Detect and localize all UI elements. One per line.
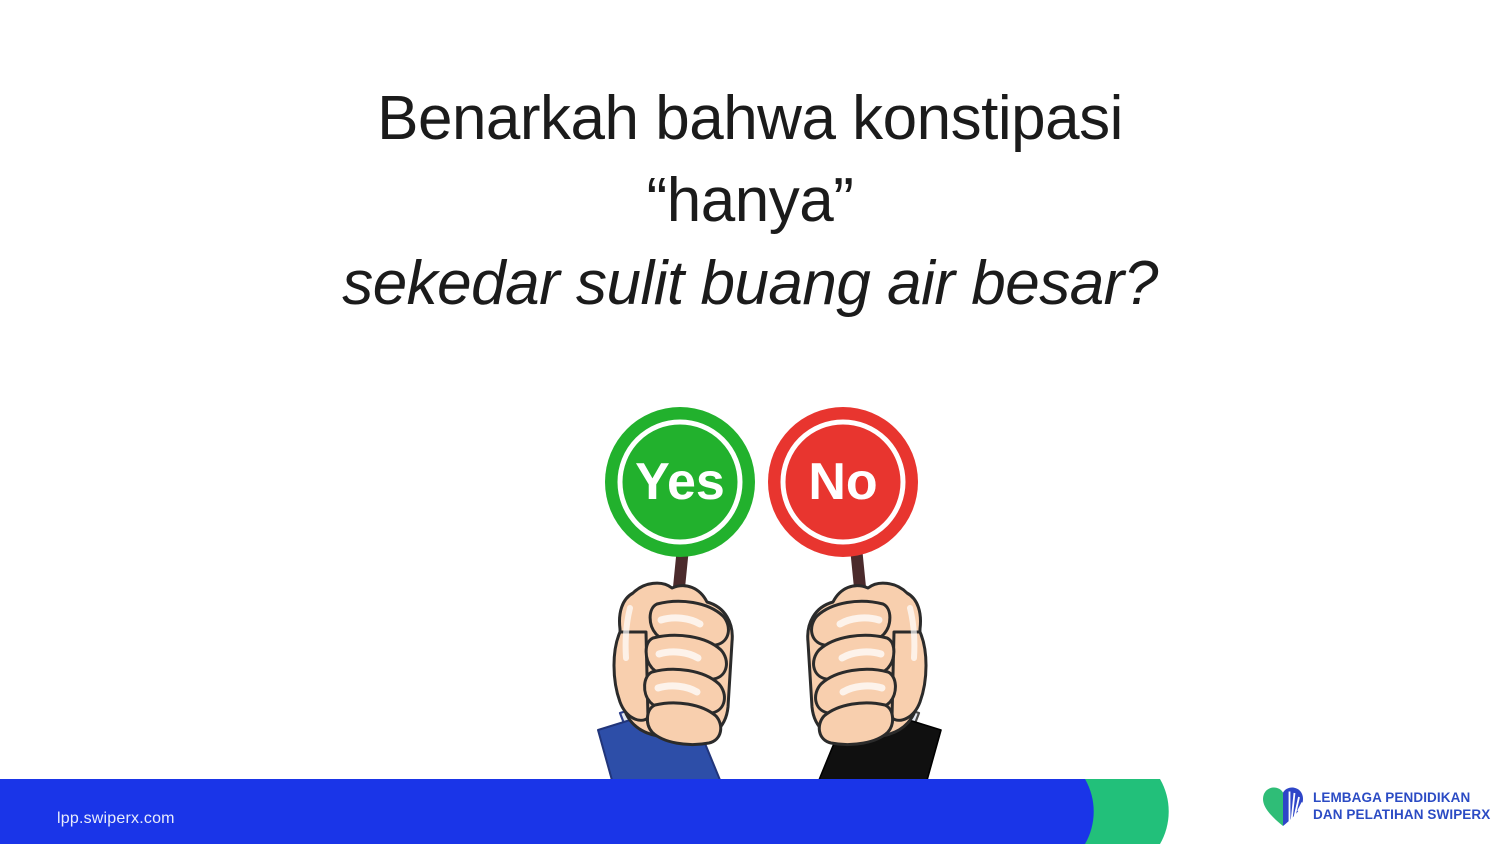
slide-canvas: Benarkah bahwa konstipasi “hanya” sekeda… [0,0,1500,844]
swiperx-heart-icon [1262,784,1304,828]
slide-title: Benarkah bahwa konstipasi “hanya” sekeda… [0,78,1500,325]
no-paddle-sign[interactable]: No [768,407,918,557]
brand-logo[interactable]: LEMBAGA PENDIDIKAN DAN PELATIHAN SWIPERX [1262,784,1490,828]
right-thumb [892,632,926,720]
brand-line-1: LEMBAGA PENDIDIKAN [1313,789,1490,806]
brand-line-2: DAN PELATIHAN SWIPERX [1313,806,1490,823]
no-sign-label: No [808,453,877,511]
right-hand [808,583,926,744]
yes-paddle-sign[interactable]: Yes [605,407,755,557]
title-line-1: Benarkah bahwa konstipasi [0,78,1500,160]
left-hand [614,583,732,744]
footer-url-text[interactable]: lpp.swiperx.com [57,810,175,828]
yes-sign-label: Yes [635,453,725,511]
brand-wordmark: LEMBAGA PENDIDIKAN DAN PELATIHAN SWIPERX [1313,789,1490,823]
heart-left-green [1263,788,1283,827]
title-line-2: “hanya” [0,160,1500,242]
title-line-3: sekedar sulit buang air besar? [0,243,1500,325]
left-thumb [614,632,648,720]
